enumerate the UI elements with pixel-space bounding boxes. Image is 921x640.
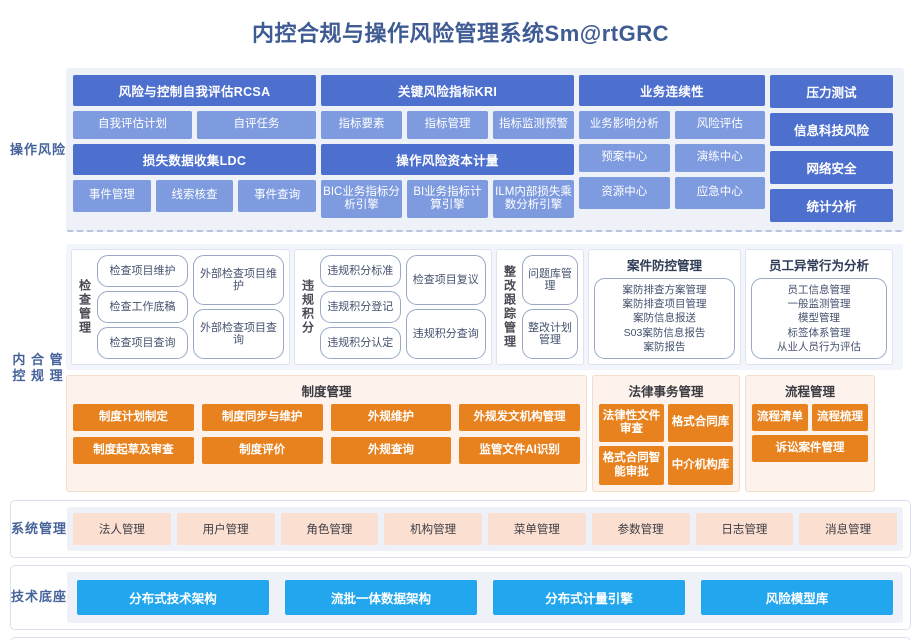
section-label-text-1: 操作 (10, 142, 38, 158)
internal-control-body: 检查管理 检查项目维护 检查工作底稿 检查项目查询 外部检查项目维护 外部检查项… (66, 240, 911, 496)
menu-regulatory-doc-ai-recognition[interactable]: 监管文件AI识别 (459, 437, 580, 464)
module-risk-model-library[interactable]: 风险模型库 (701, 580, 893, 615)
menu-group-case-prevention[interactable]: 案防排查方案管理 案防排查项目管理 案防信息报送 S03案防信息报告 案防报告 (594, 278, 735, 359)
menu-legal-document-review[interactable]: 法律性文件审查 (599, 404, 664, 442)
menu-plan-center[interactable]: 预案中心 (579, 144, 670, 172)
opr-column-rcsa-ldc: 风险与控制自我评估RCSA 自我评估计划 自评任务 损失数据收集LDC 事件管理… (73, 75, 316, 222)
menu-self-assessment-task[interactable]: 自评任务 (197, 111, 316, 139)
tech-label-text-1: 技术 (11, 589, 39, 605)
panel-legal-affairs: 法律事务管理 法律性文件审查 格式合同库 格式合同智能审批 中介机构库 (592, 375, 740, 492)
icc-label-text-1: 内控 (10, 352, 29, 384)
menu-drill-center[interactable]: 演练中心 (675, 144, 766, 172)
section-operational-risk: 操作 风险 风险与控制自我评估RCSA 自我评估计划 自评任务 损失数据收集LD… (10, 62, 911, 238)
pill-col-rectification: 问题库管理 整改计划管理 (522, 255, 578, 359)
module-stress-test[interactable]: 压力测试 (770, 75, 893, 108)
menu-case-screening-project[interactable]: 案防排查项目管理 (599, 297, 730, 311)
panel-rectification-tracking: 整改跟踪管理 问题库管理 整改计划管理 (496, 249, 584, 365)
menu-organization-management[interactable]: 机构管理 (384, 513, 482, 545)
section-internal-control: 内控 合规 管理 检查管理 检查项目维护 检查工作底稿 检查项目查询 (10, 240, 911, 496)
section-label-system-management: 系统 管理 (11, 501, 67, 557)
menu-external-inspection-query[interactable]: 外部检查项目查询 (193, 309, 284, 359)
section-label-internal-control: 内控 合规 管理 (10, 240, 66, 496)
section-label-text-2: 风险 (38, 142, 66, 158)
section-tech-base: 技术 底座 分布式技术架构 流批一体数据架构 分布式计量引擎 风险模型库 (10, 565, 911, 630)
menu-clue-verification[interactable]: 线索核查 (156, 180, 234, 212)
menu-menu-management[interactable]: 菜单管理 (488, 513, 586, 545)
subrow-ldc: 事件管理 线索核查 事件查询 (73, 180, 316, 212)
panel-inspection-management: 检查管理 检查项目维护 检查工作底稿 检查项目查询 外部检查项目维护 外部检查项… (71, 249, 290, 365)
panel-label-violation: 违规积分 (300, 255, 315, 359)
menu-log-management[interactable]: 日志管理 (696, 513, 794, 545)
page-title: 内控合规与操作风险管理系统Sm@rtGRC (10, 4, 911, 62)
module-business-continuity[interactable]: 业务连续性 (579, 75, 765, 106)
internal-control-panel-row: 检查管理 检查项目维护 检查工作底稿 检查项目查询 外部检查项目维护 外部检查项… (66, 244, 903, 370)
opr-column-standalone-tiles: 压力测试 信息科技风险 网络安全 统计分析 (770, 75, 893, 222)
menu-s03-case-info-report[interactable]: S03案防信息报告 (599, 326, 730, 340)
panel-title-legal-affairs: 法律事务管理 (599, 380, 733, 404)
menu-bic-engine[interactable]: BIC业务指标分析引擎 (321, 180, 402, 218)
menu-event-query[interactable]: 事件查询 (238, 180, 316, 212)
menu-violation-point-standard[interactable]: 违规积分标准 (320, 255, 401, 287)
menu-violation-point-query[interactable]: 违规积分查询 (406, 309, 487, 359)
opr-column-kri-capital: 关键风险指标KRI 指标要素 指标管理 指标监测预警 操作风险资本计量 BIC业… (321, 75, 574, 222)
icc-label-text-2: 合规 (29, 352, 48, 384)
opr-column-business-continuity: 业务连续性 业务影响分析 风险评估 预案中心 演练中心 资源中心 应急中心 (579, 75, 765, 222)
menu-standard-contract-ai-approval[interactable]: 格式合同智能审批 (599, 446, 664, 484)
menu-case-screening-plan[interactable]: 案防排查方案管理 (599, 283, 730, 297)
panel-case-prevention: 案件防控管理 案防排查方案管理 案防排查项目管理 案防信息报送 S03案防信息报… (588, 249, 741, 365)
menu-case-report[interactable]: 案防报告 (599, 340, 730, 354)
panel-policy-management: 制度管理 制度计划制定 制度同步与维护 外规维护 外规发文机构管理 制度起草及审… (66, 375, 587, 492)
pill-col-violation-a: 违规积分标准 违规积分登记 违规积分认定 (320, 255, 401, 359)
tech-label-text-2: 底座 (39, 589, 67, 605)
sys-label-text-2: 管理 (39, 521, 67, 537)
menu-violation-point-registration[interactable]: 违规积分登记 (320, 291, 401, 323)
menu-inspection-working-papers[interactable]: 检查工作底稿 (97, 291, 188, 323)
panel-label-rectification: 整改跟踪管理 (502, 255, 517, 359)
pill-col-inspection-b: 外部检查项目维护 外部检查项目查询 (193, 255, 284, 359)
module-network-security[interactable]: 网络安全 (770, 151, 893, 184)
subrow-bcm-2: 预案中心 演练中心 (579, 144, 765, 172)
module-distributed-tech-architecture[interactable]: 分布式技术架构 (77, 580, 269, 615)
menu-role-management[interactable]: 角色管理 (281, 513, 379, 545)
menu-indicator-management[interactable]: 指标管理 (407, 111, 488, 139)
menu-issue-library-management[interactable]: 问题库管理 (522, 255, 578, 305)
module-statistical-analysis[interactable]: 统计分析 (770, 189, 893, 222)
menu-emergency-center[interactable]: 应急中心 (675, 177, 766, 209)
subrow-kri: 指标要素 指标管理 指标监测预警 (321, 111, 574, 139)
module-operational-risk-capital[interactable]: 操作风险资本计量 (321, 144, 574, 175)
subrow-rcsa: 自我评估计划 自评任务 (73, 111, 316, 139)
menu-intermediary-org-library[interactable]: 中介机构库 (668, 446, 733, 484)
menu-case-info-submission[interactable]: 案防信息报送 (599, 311, 730, 325)
menu-user-management[interactable]: 用户管理 (177, 513, 275, 545)
subrow-bcm-1: 业务影响分析 风险评估 (579, 111, 765, 139)
section-label-tech-base: 技术 底座 (11, 566, 67, 629)
module-distributed-measurement-engine[interactable]: 分布式计量引擎 (493, 580, 685, 615)
panel-process-management: 流程管理 流程清单 流程梳理 诉讼案件管理 (745, 375, 875, 492)
menu-policy-evaluation[interactable]: 制度评价 (202, 437, 323, 464)
subrow-capital: BIC业务指标分析引擎 BI业务指标计算引擎 ILM内部损失乘数分析引擎 (321, 180, 574, 218)
section-system-management: 系统 管理 法人管理 用户管理 角色管理 机构管理 菜单管理 参数管理 日志管理… (10, 500, 911, 558)
menu-external-regulation-query[interactable]: 外规查询 (331, 437, 452, 464)
menu-general-monitoring-management[interactable]: 一般监测管理 (756, 297, 882, 311)
tech-base-body: 分布式技术架构 流批一体数据架构 分布式计量引擎 风险模型库 (67, 572, 903, 623)
subrow-bcm-3: 资源中心 应急中心 (579, 177, 765, 209)
module-it-risk[interactable]: 信息科技风险 (770, 113, 893, 146)
menu-practitioner-behavior-assessment[interactable]: 从业人员行为评估 (756, 340, 882, 354)
panel-title-policy-management: 制度管理 (73, 380, 580, 404)
menu-litigation-case-management[interactable]: 诉讼案件管理 (752, 435, 868, 462)
panel-title-case-prevention: 案件防控管理 (594, 255, 735, 274)
menu-group-employee-behavior[interactable]: 员工信息管理 一般监测管理 模型管理 标签体系管理 从业人员行为评估 (751, 278, 887, 359)
menu-inspection-item-maintenance[interactable]: 检查项目维护 (97, 255, 188, 287)
module-stream-batch-data-architecture[interactable]: 流批一体数据架构 (285, 580, 477, 615)
menu-resource-center[interactable]: 资源中心 (579, 177, 670, 209)
system-architecture-diagram: 内控合规与操作风险管理系统Sm@rtGRC 操作 风险 风险与控制自我评估RCS… (0, 0, 921, 640)
menu-event-management[interactable]: 事件管理 (73, 180, 151, 212)
menu-self-assessment-plan[interactable]: 自我评估计划 (73, 111, 192, 139)
menu-indicator-monitoring-alert[interactable]: 指标监测预警 (493, 111, 574, 139)
menu-business-impact-analysis[interactable]: 业务影响分析 (579, 111, 670, 139)
menu-external-regulation-issuing-org[interactable]: 外规发文机构管理 (459, 404, 580, 431)
menu-risk-assessment[interactable]: 风险评估 (675, 111, 766, 139)
menu-parameter-management[interactable]: 参数管理 (592, 513, 690, 545)
menu-policy-sync-maintenance[interactable]: 制度同步与维护 (202, 404, 323, 431)
icc-label-text-3: 管理 (47, 352, 66, 384)
module-kri[interactable]: 关键风险指标KRI (321, 75, 574, 106)
menu-process-combing[interactable]: 流程梳理 (812, 404, 868, 431)
system-management-body: 法人管理 用户管理 角色管理 机构管理 菜单管理 参数管理 日志管理 消息管理 (67, 507, 903, 551)
module-rcsa[interactable]: 风险与控制自我评估RCSA (73, 75, 316, 106)
menu-inspection-item-query[interactable]: 检查项目查询 (97, 327, 188, 359)
menu-inspection-item-review[interactable]: 检查项目复议 (406, 255, 487, 305)
pill-col-violation-b: 检查项目复议 违规积分查询 (406, 255, 487, 359)
menu-bi-engine[interactable]: BI业务指标计算引擎 (407, 180, 488, 218)
menu-legal-entity-management[interactable]: 法人管理 (73, 513, 171, 545)
menu-policy-drafting-review[interactable]: 制度起草及审查 (73, 437, 194, 464)
menu-tag-system-management[interactable]: 标签体系管理 (756, 326, 882, 340)
sys-label-text-1: 系统 (11, 521, 39, 537)
menu-indicator-elements[interactable]: 指标要素 (321, 111, 402, 139)
menu-rectification-plan-management[interactable]: 整改计划管理 (522, 309, 578, 359)
panel-employee-behavior: 员工异常行为分析 员工信息管理 一般监测管理 模型管理 标签体系管理 从业人员行… (745, 249, 893, 365)
pill-col-inspection-a: 检查项目维护 检查工作底稿 检查项目查询 (97, 255, 188, 359)
menu-employee-info-management[interactable]: 员工信息管理 (756, 283, 882, 297)
internal-control-orange-row: 制度管理 制度计划制定 制度同步与维护 外规维护 外规发文机构管理 制度起草及审… (66, 375, 903, 492)
menu-process-list[interactable]: 流程清单 (752, 404, 808, 431)
operational-risk-body: 风险与控制自我评估RCSA 自我评估计划 自评任务 损失数据收集LDC 事件管理… (66, 68, 904, 232)
panel-label-inspection: 检查管理 (77, 255, 92, 359)
panel-violation-points: 违规积分 违规积分标准 违规积分登记 违规积分认定 检查项目复议 违规积分查询 (294, 249, 492, 365)
section-label-operational-risk: 操作 风险 (10, 62, 66, 238)
menu-violation-point-confirmation[interactable]: 违规积分认定 (320, 327, 401, 359)
panel-title-employee-behavior: 员工异常行为分析 (751, 255, 887, 274)
menu-model-management[interactable]: 模型管理 (756, 311, 882, 325)
menu-external-regulation-maintenance[interactable]: 外规维护 (331, 404, 452, 431)
menu-message-management[interactable]: 消息管理 (799, 513, 897, 545)
module-ldc[interactable]: 损失数据收集LDC (73, 144, 316, 175)
menu-ilm-engine[interactable]: ILM内部损失乘数分析引擎 (493, 180, 574, 218)
menu-policy-plan-formulation[interactable]: 制度计划制定 (73, 404, 194, 431)
panel-title-process-management: 流程管理 (752, 380, 868, 404)
menu-standard-contract-library[interactable]: 格式合同库 (668, 404, 733, 442)
menu-external-inspection-maintenance[interactable]: 外部检查项目维护 (193, 255, 284, 305)
